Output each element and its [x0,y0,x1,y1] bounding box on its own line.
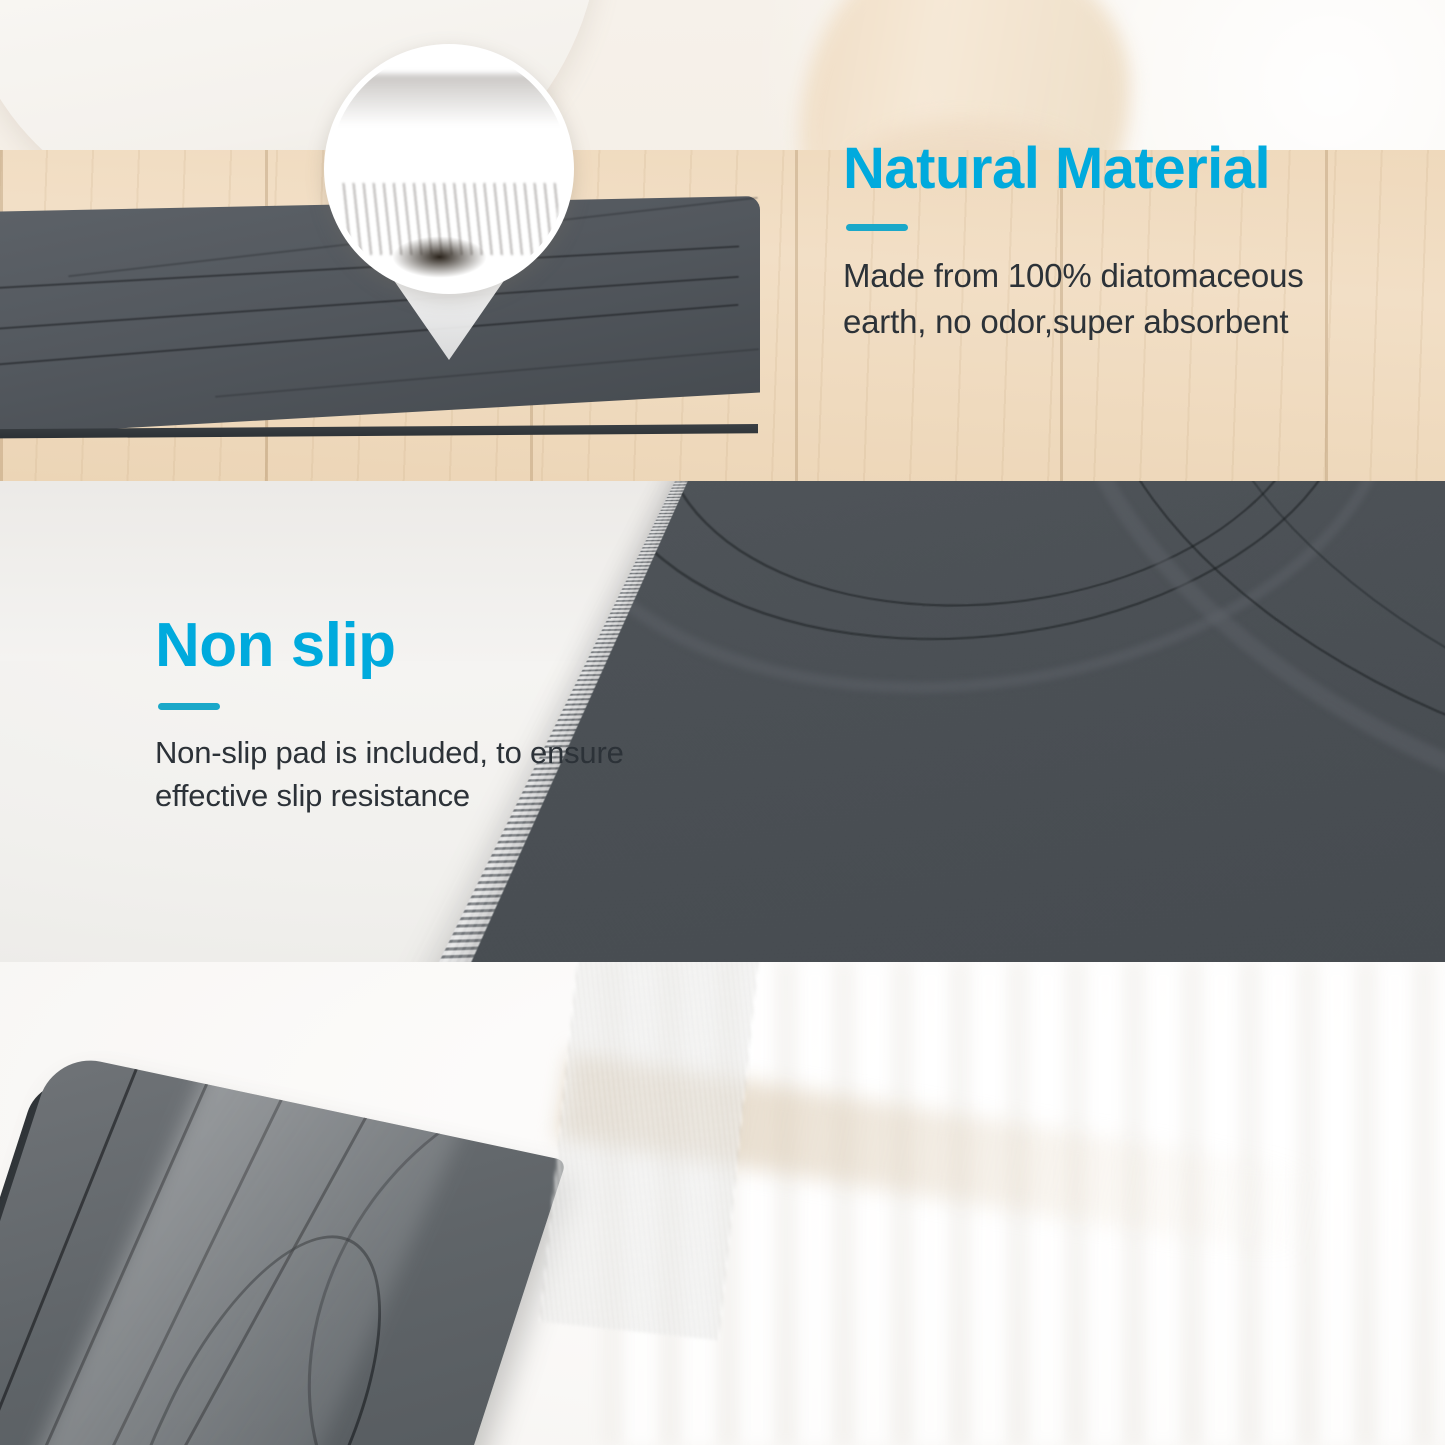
body-non-slip: Non-slip pad is included, to ensure effe… [155,732,655,818]
body-natural-material: Made from 100% diatomaceous earth, no od… [843,253,1363,344]
accent-rule [846,224,908,231]
bathroom-rinse-background [0,962,1445,1445]
diatomaceous-earth-rock-photo [330,50,568,288]
material-callout-pin [318,38,580,368]
headline-natural-material: Natural Material [843,140,1383,198]
panel-easy-to-clean: Easy to Clean Simply rinse with water an… [0,962,1445,1445]
panel-non-slip: Non slip Non-slip pad is included, to en… [0,481,1445,962]
headline-non-slip: Non slip [155,615,695,677]
panel-natural-material: Natural Material Made from 100% diatomac… [0,0,1445,481]
wet-diatomite-bath-mat [0,1052,566,1445]
accent-rule [158,703,220,710]
feature-text-natural-material: Natural Material Made from 100% diatomac… [843,140,1383,344]
product-feature-infographic: Natural Material Made from 100% diatomac… [0,0,1445,1445]
feature-text-non-slip: Non slip Non-slip pad is included, to en… [155,615,695,818]
callout-pin-circle [324,44,574,294]
